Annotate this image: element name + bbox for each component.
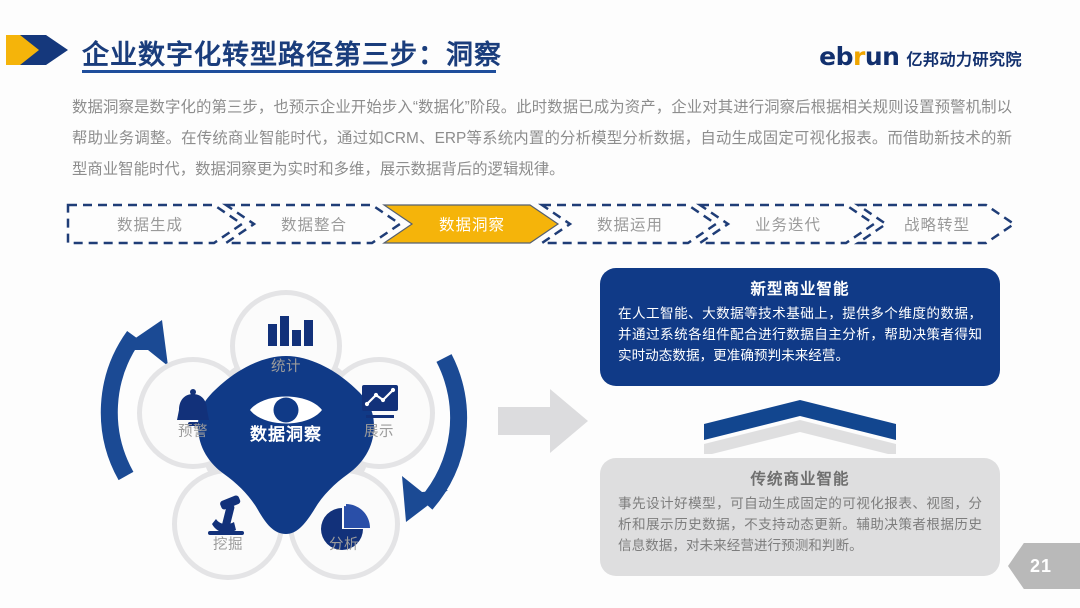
slide-canvas: 企业数字化转型路径第三步：洞察 ebrun 亿邦动力研究院 数据洞察是数字化的第…: [0, 0, 1080, 608]
panel-traditional-bi-body: 事先设计好模型，可自动生成固定的可视化报表、视图，分析和展示历史数据，不支持动态…: [618, 493, 982, 556]
step-item-4[interactable]: 业务迭代: [712, 203, 874, 245]
logo-word-post: un: [865, 42, 900, 71]
right-arrow-icon: [498, 385, 590, 457]
step-item-5[interactable]: 战略转型: [870, 203, 1014, 245]
step-item-0[interactable]: 数据生成: [68, 203, 242, 245]
brand-logo: ebrun 亿邦动力研究院: [819, 42, 1022, 71]
logo-wordmark: ebrun: [819, 42, 899, 71]
logo-chinese-name: 亿邦动力研究院: [906, 46, 1022, 70]
satellite-label-3: 挖掘: [188, 533, 268, 554]
step-item-2[interactable]: 数据洞察: [396, 203, 558, 245]
step-label-0: 数据生成: [117, 213, 183, 235]
intro-paragraph: 数据洞察是数字化的第三步，也预示企业开始步入“数据化”阶段。此时数据已成为资产，…: [72, 92, 1012, 185]
satellite-label-2: 分析: [304, 533, 384, 554]
panel-new-bi: 新型商业智能 在人工智能、大数据等技术基础上，提供多个维度的数据，并通过系统各组…: [600, 268, 1000, 386]
step-item-1[interactable]: 数据整合: [238, 203, 400, 245]
step-label-5: 战略转型: [904, 213, 970, 235]
logo-word-highlight: r: [853, 42, 865, 71]
step-label-1: 数据整合: [281, 213, 347, 235]
panel-traditional-bi: 传统商业智能 事先设计好模型，可自动生成固定的可视化报表、视图，分析和展示历史数…: [600, 458, 1000, 576]
panel-new-bi-title: 新型商业智能: [618, 277, 982, 299]
panel-new-bi-body: 在人工智能、大数据等技术基础上，提供多个维度的数据，并通过系统各组件配合进行数据…: [618, 303, 982, 366]
page-number-badge: 21: [1008, 543, 1080, 589]
double-chevron-up-icon: [700, 398, 900, 454]
logo-word-pre: eb: [819, 42, 853, 71]
satellite-label-4: 预警: [153, 420, 233, 441]
step-label-2: 数据洞察: [439, 213, 505, 235]
satellite-label-1: 展示: [339, 420, 419, 441]
step-label-4: 业务迭代: [755, 213, 821, 235]
page-title: 企业数字化转型路径第三步：洞察: [82, 33, 502, 72]
title-underline: [82, 70, 496, 73]
process-steps: 数据生成 数据整合 数据洞察 数据运用 业务迭代 战略转型: [66, 203, 1016, 245]
step-item-3[interactable]: 数据运用: [554, 203, 716, 245]
double-arrow-icon: [6, 31, 68, 69]
insight-cycle-diagram: 数据洞察 统计 展示 分析 挖掘 预警: [96, 258, 476, 588]
panel-traditional-bi-title: 传统商业智能: [618, 467, 982, 489]
step-label-3: 数据运用: [597, 213, 663, 235]
satellite-label-0: 统计: [246, 355, 326, 376]
